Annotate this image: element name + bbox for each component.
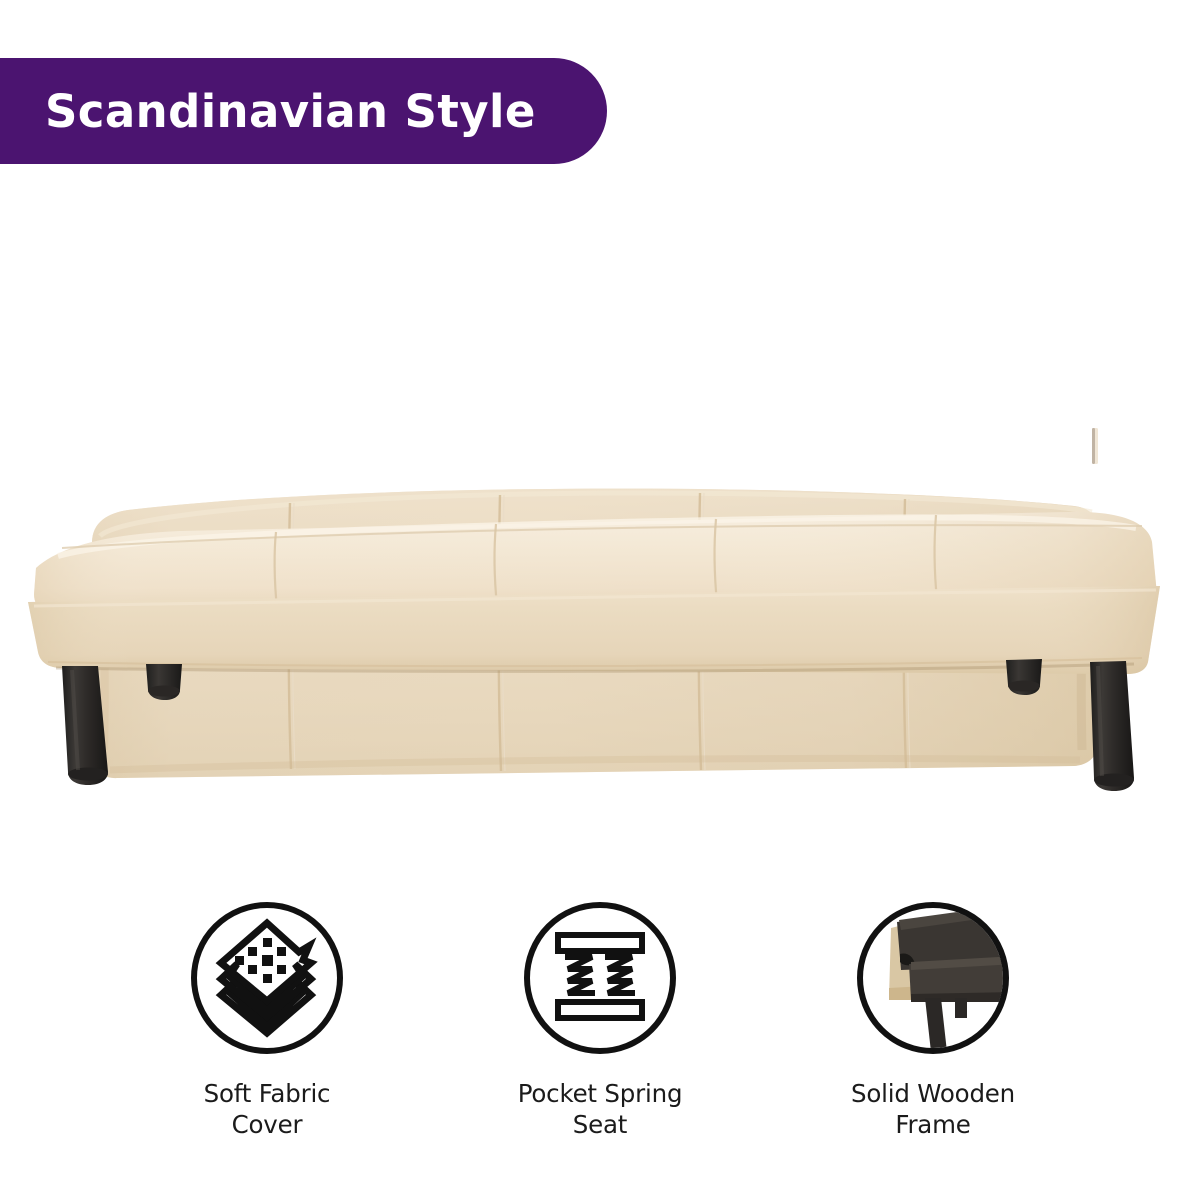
front-right-leg [1090,661,1134,791]
wooden-frame-photo-icon [855,900,1011,1056]
feature-label: Pocket Spring Seat [518,1078,683,1141]
product-marketing-image: Scandinavian Style [0,0,1200,1200]
rear-right-leg [1006,659,1042,695]
banner-badge: Scandinavian Style [0,58,607,164]
sofa-product-photo [0,250,1200,810]
pocket-spring-icon [522,900,678,1056]
feature-item: Soft Fabric Cover [167,900,367,1141]
fabric-tag [1092,428,1098,464]
feature-label: Soft Fabric Cover [204,1078,331,1141]
feature-list: Soft Fabric Cover Pocket Spring Seat [0,900,1200,1170]
rear-left-leg [146,664,182,700]
feature-item: Solid Wooden Frame [833,900,1033,1141]
banner-title: Scandinavian Style [45,85,536,138]
layered-fabric-icon [189,900,345,1056]
feature-label: Solid Wooden Frame [851,1078,1015,1141]
feature-item: Pocket Spring Seat [500,900,700,1141]
